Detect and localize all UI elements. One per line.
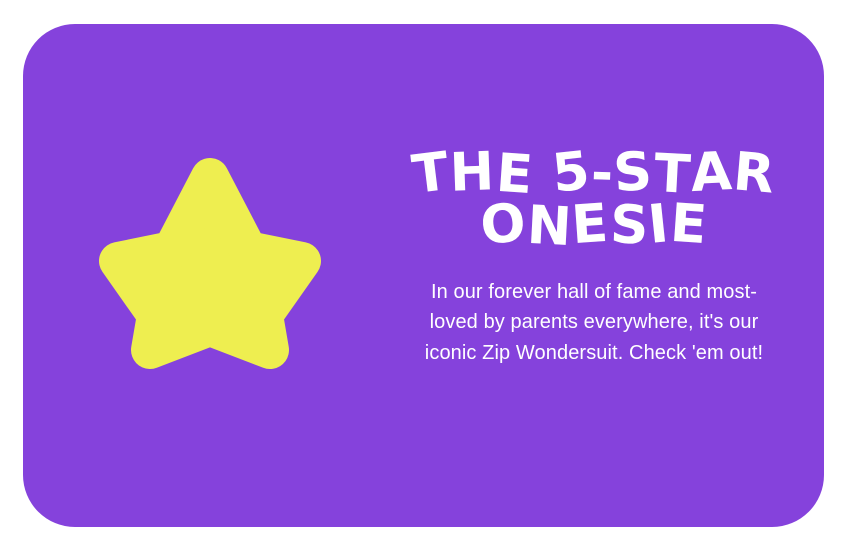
star-shape	[118, 177, 302, 350]
rounded-star-icon	[88, 147, 332, 380]
promo-headline: THE 5-STAR ONESIE	[386, 147, 802, 251]
headline-letter: S	[609, 199, 650, 252]
promo-media-pane	[23, 24, 378, 527]
headline-letter: S	[612, 146, 655, 201]
headline-letter: E	[570, 198, 611, 252]
headline-line-2: ONESIE	[386, 199, 802, 251]
headline-letter: R	[731, 146, 777, 201]
headline-letter: A	[689, 146, 734, 200]
headline-letter: O	[478, 197, 529, 253]
headline-letter: T	[409, 146, 452, 202]
headline-letter: H	[449, 146, 496, 199]
headline-line-1: THE 5-STAR	[386, 147, 802, 199]
headline-letter: N	[526, 200, 574, 254]
promo-card[interactable]: THE 5-STAR ONESIE In our forever hall of…	[23, 24, 824, 527]
headline-letter: 5	[550, 145, 593, 201]
screenshot-canvas: THE 5-STAR ONESIE In our forever hall of…	[0, 0, 850, 550]
promo-body-text: In our forever hall of fame and most-lov…	[410, 277, 778, 368]
promo-copy-pane: THE 5-STAR ONESIE In our forever hall of…	[378, 24, 824, 527]
headline-letter: E	[669, 198, 710, 252]
